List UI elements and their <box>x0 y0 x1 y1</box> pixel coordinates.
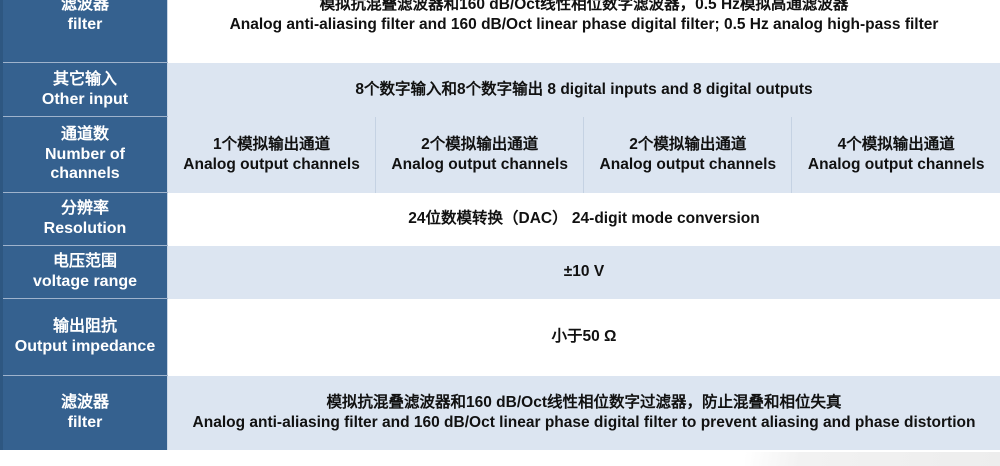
channels-cell-cn: 4个模拟输出通道 <box>800 135 992 155</box>
channels-cell-en: Analog output channels <box>176 155 367 175</box>
row-header-label-en: Number of channels <box>9 145 161 185</box>
channels-cell-en: Analog output channels <box>592 155 783 175</box>
row-value-en: Analog anti-aliasing filter and 160 dB/O… <box>176 413 992 433</box>
row-header-label-en: filter <box>9 15 161 35</box>
row-header-filter-bottom: 滤波器 filter <box>2 376 168 451</box>
channels-cell-2: 2个模拟输出通道 Analog output channels <box>376 117 584 193</box>
row-header-label-en: filter <box>9 413 161 433</box>
channels-cell-en: Analog output channels <box>800 155 992 175</box>
table-row: 分辨率 Resolution 24位数模转换（DAC） 24-digit mod… <box>2 193 1000 246</box>
row-header-label-cn: 滤波器 <box>9 393 161 413</box>
row-header-other-input: 其它输入 Other input <box>2 63 168 117</box>
row-value-en: Analog anti-aliasing filter and 160 dB/O… <box>176 15 992 35</box>
row-value-cn: 模拟抗混叠滤波器和160 dB/Oct线性相位数字过滤器，防止混叠和相位失真 <box>176 393 992 413</box>
row-header-label-en: Output impedance <box>9 337 161 357</box>
row-header-output-impedance: 输出阻抗 Output impedance <box>2 299 168 376</box>
row-value-other-input: 8个数字输入和8个数字输出 8 digital inputs and 8 dig… <box>168 63 1000 117</box>
row-header-label-en: Other input <box>9 90 161 110</box>
row-value-filter-bottom: 模拟抗混叠滤波器和160 dB/Oct线性相位数字过滤器，防止混叠和相位失真 A… <box>168 376 1000 451</box>
channels-cell-3: 2个模拟输出通道 Analog output channels <box>584 117 792 193</box>
channels-cell-cn: 1个模拟输出通道 <box>176 135 367 155</box>
row-value-cn: 8个数字输入和8个数字输出 8 digital inputs and 8 dig… <box>176 80 992 100</box>
table-row: 滤波器 filter 模拟抗混叠滤波器和160 dB/Oct线性相位数字滤波器，… <box>2 0 1000 63</box>
row-header-label-en: voltage range <box>9 272 161 292</box>
row-header-filter-top: 滤波器 filter <box>2 0 168 63</box>
row-value-cn: 小于50 Ω <box>176 327 992 347</box>
row-header-channels: 通道数 Number of channels <box>2 117 168 193</box>
row-header-label-cn: 电压范围 <box>9 252 161 272</box>
row-value-cn: 模拟抗混叠滤波器和160 dB/Oct线性相位数字滤波器，0.5 Hz模拟高通滤… <box>176 0 992 15</box>
table-row: 输出阻抗 Output impedance 小于50 Ω <box>2 299 1000 376</box>
row-value-cn: 24位数模转换（DAC） 24-digit mode conversion <box>176 209 992 229</box>
row-header-label-cn: 通道数 <box>9 125 161 145</box>
channels-cell-cn: 2个模拟输出通道 <box>592 135 783 155</box>
row-header-label-cn: 其它输入 <box>9 70 161 90</box>
row-header-label-cn: 输出阻抗 <box>9 317 161 337</box>
row-header-label-cn: 滤波器 <box>9 0 161 15</box>
row-header-label-cn: 分辨率 <box>9 199 161 219</box>
channels-cell-cn: 2个模拟输出通道 <box>384 135 575 155</box>
table-row: 电压范围 voltage range ±10 V <box>2 246 1000 299</box>
row-value-filter-top: 模拟抗混叠滤波器和160 dB/Oct线性相位数字滤波器，0.5 Hz模拟高通滤… <box>168 0 1000 63</box>
row-value-voltage-range: ±10 V <box>168 246 1000 299</box>
specification-table: 滤波器 filter 模拟抗混叠滤波器和160 dB/Oct线性相位数字滤波器，… <box>0 0 1000 451</box>
table-row: 其它输入 Other input 8个数字输入和8个数字输出 8 digital… <box>2 63 1000 117</box>
row-value-cn: ±10 V <box>176 262 992 282</box>
channels-cell-4: 4个模拟输出通道 Analog output channels <box>792 117 1000 193</box>
row-value-output-impedance: 小于50 Ω <box>168 299 1000 376</box>
channels-cell-en: Analog output channels <box>384 155 575 175</box>
page-bottom-shade <box>745 452 1000 466</box>
table-row: 通道数 Number of channels 1个模拟输出通道 Analog o… <box>2 117 1000 193</box>
row-header-label-en: Resolution <box>9 219 161 239</box>
row-header-resolution: 分辨率 Resolution <box>2 193 168 246</box>
row-header-voltage-range: 电压范围 voltage range <box>2 246 168 299</box>
row-value-resolution: 24位数模转换（DAC） 24-digit mode conversion <box>168 193 1000 246</box>
table-row: 滤波器 filter 模拟抗混叠滤波器和160 dB/Oct线性相位数字过滤器，… <box>2 376 1000 451</box>
channels-cell-1: 1个模拟输出通道 Analog output channels <box>168 117 376 193</box>
